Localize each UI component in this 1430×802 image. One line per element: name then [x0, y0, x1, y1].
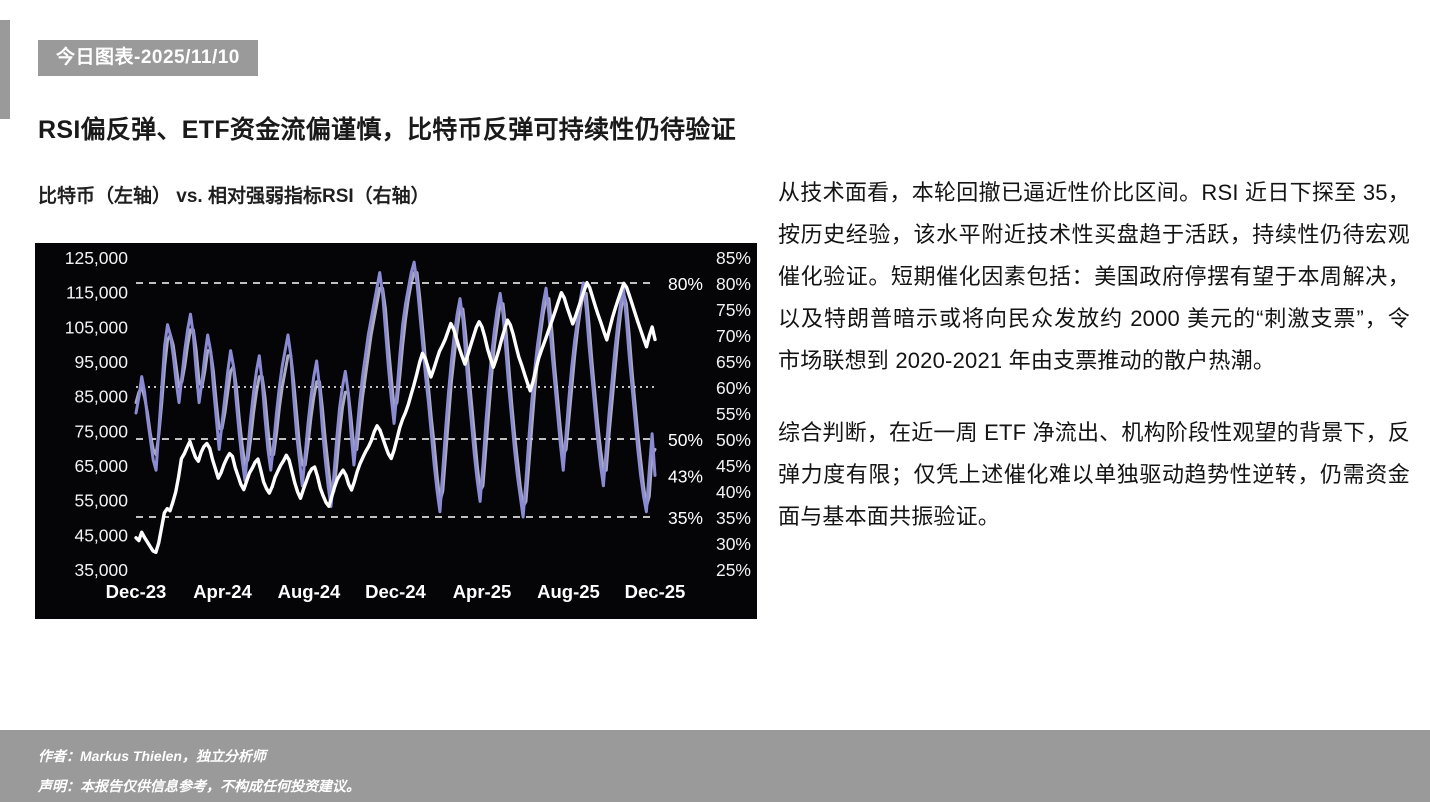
right-axis-tick: 35% — [716, 508, 751, 528]
x-axis-tick: Aug-24 — [278, 581, 341, 602]
right-axis-tick: 50% — [716, 430, 751, 450]
page-title: RSI偏反弹、ETF资金流偏谨慎，比特币反弹可持续性仍待验证 — [38, 110, 736, 146]
reference-line-label: 35% — [668, 508, 703, 528]
reference-line-label: 43% — [668, 466, 703, 486]
x-axis-tick: Apr-24 — [193, 581, 252, 602]
chart-subtitle: 比特币（左轴） vs. 相对强弱指标RSI（右轴） — [38, 181, 430, 208]
left-accent-bar — [0, 20, 10, 119]
left-axis-tick: 75,000 — [74, 421, 128, 441]
right-axis-tick: 45% — [716, 456, 751, 476]
right-axis-tick: 25% — [716, 560, 751, 580]
footer-bar: 作者：Markus Thielen，独立分析师 声明：本报告仅供信息参考，不构成… — [0, 730, 1430, 802]
right-axis-tick: 55% — [716, 404, 751, 424]
right-axis-tick: 75% — [716, 300, 751, 320]
commentary-column: 从技术面看，本轮回撤已逼近性价比区间。RSI 近日下探至 35，按历史经验，该水… — [778, 172, 1410, 538]
reference-line-label: 80% — [668, 274, 703, 294]
reference-line-label: 50% — [668, 430, 703, 450]
x-axis-tick: Apr-25 — [453, 581, 512, 602]
footer-disclaimer: 声明：本报告仅供信息参考，不构成任何投资建议。 — [38, 776, 360, 796]
commentary-paragraph-2: 综合判断，在近一周 ETF 净流出、机构阶段性观望的背景下，反弹力度有限；仅凭上… — [778, 412, 1410, 538]
footer-author: 作者：Markus Thielen，独立分析师 — [38, 746, 266, 766]
chart-panel: 125,000115,000105,00095,00085,00075,0006… — [35, 243, 757, 619]
x-axis-tick: Dec-24 — [365, 581, 426, 602]
report-page: 今日图表-2025/11/10 RSI偏反弹、ETF资金流偏谨慎，比特币反弹可持… — [0, 0, 1430, 802]
right-axis-tick: 80% — [716, 274, 751, 294]
right-axis-tick: 70% — [716, 326, 751, 346]
left-axis-tick: 55,000 — [74, 491, 128, 511]
right-axis-tick: 60% — [716, 378, 751, 398]
price-rsi-line-chart: 125,000115,000105,00095,00085,00075,0006… — [35, 243, 757, 619]
left-axis-tick: 45,000 — [74, 525, 128, 545]
left-axis-tick: 35,000 — [74, 560, 128, 580]
right-axis-tick: 30% — [716, 534, 751, 554]
date-badge: 今日图表-2025/11/10 — [38, 40, 258, 76]
x-axis-tick: Dec-23 — [106, 581, 167, 602]
series-line — [136, 262, 655, 517]
left-axis-tick: 115,000 — [66, 283, 128, 303]
left-axis-tick: 65,000 — [74, 456, 128, 476]
commentary-paragraph-1: 从技术面看，本轮回撤已逼近性价比区间。RSI 近日下探至 35，按历史经验，该水… — [778, 172, 1410, 382]
right-axis-tick: 65% — [716, 352, 751, 372]
right-axis-tick: 85% — [716, 248, 751, 268]
left-axis-tick: 95,000 — [74, 352, 128, 372]
left-axis-tick: 105,000 — [65, 317, 129, 337]
x-axis-tick: Aug-25 — [537, 581, 600, 602]
right-axis-tick: 40% — [716, 482, 751, 502]
left-axis-tick: 125,000 — [65, 248, 129, 268]
left-axis-tick: 85,000 — [74, 387, 128, 407]
x-axis-tick: Dec-25 — [625, 581, 686, 602]
